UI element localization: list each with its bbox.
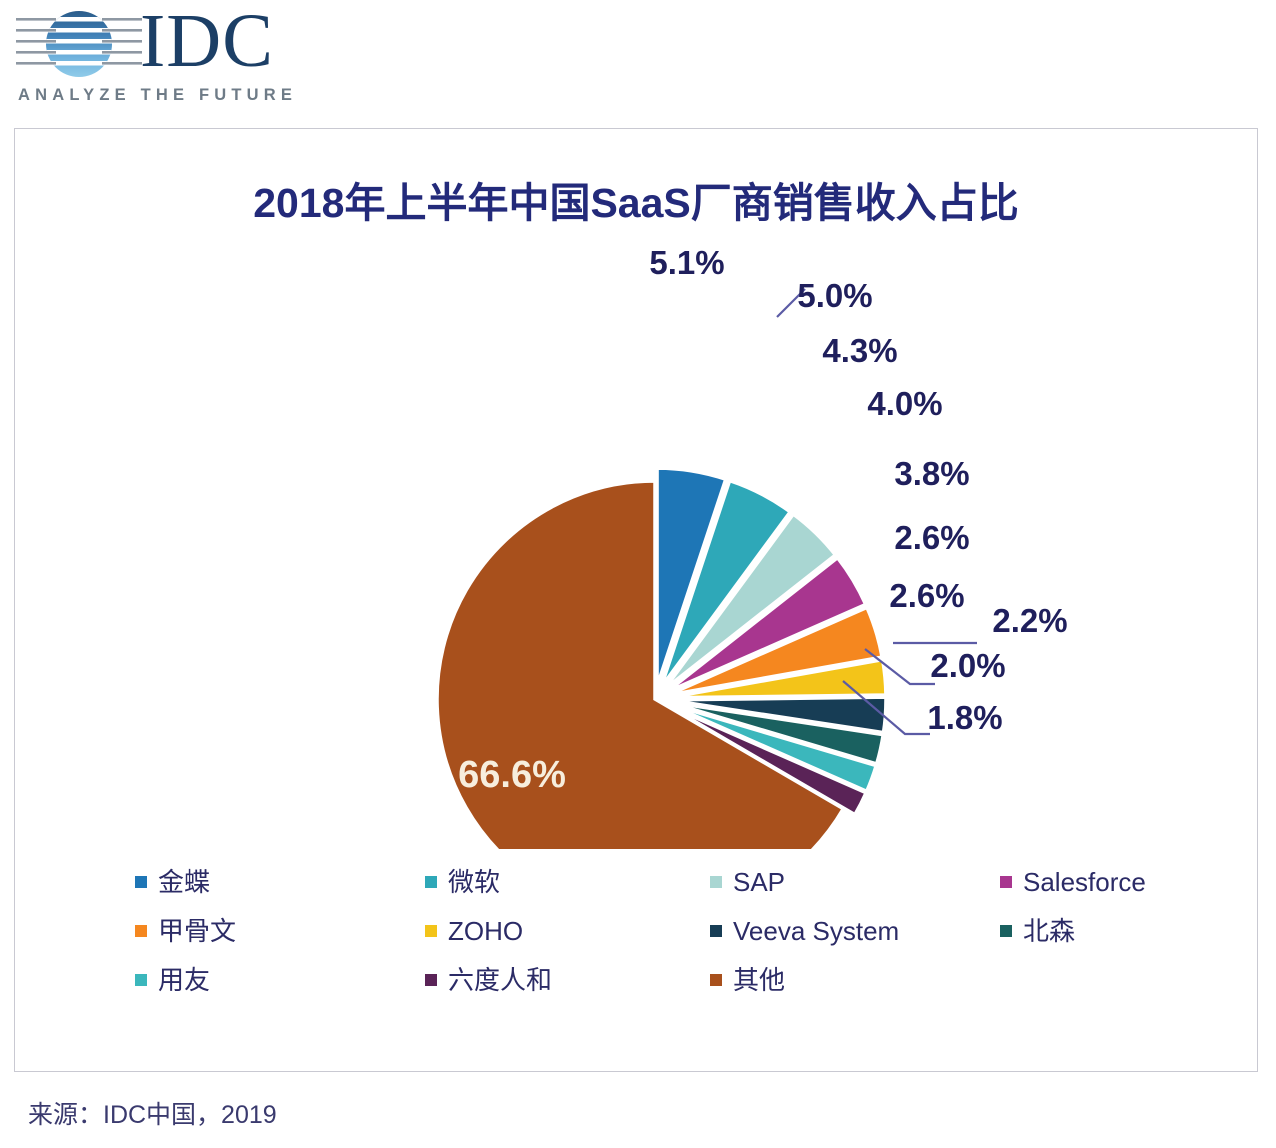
legend-item[interactable]: 六度人和 bbox=[425, 967, 710, 993]
pie-slice-label: 4.3% bbox=[822, 332, 897, 369]
legend-swatch-icon bbox=[425, 925, 437, 937]
pie-slice-label: 4.0% bbox=[867, 385, 942, 422]
legend-item[interactable]: 用友 bbox=[135, 967, 425, 993]
chart-container: 2018年上半年中国SaaS厂商销售收入占比 5.1%5.0%4.3%4.0%3… bbox=[14, 128, 1258, 1072]
chart-legend: 金蝶微软SAPSalesforce甲骨文ZOHOVeeva System北森用友… bbox=[135, 857, 1225, 1004]
legend-item-label: 北森 bbox=[1023, 918, 1075, 944]
legend-item[interactable]: Veeva System bbox=[710, 918, 1000, 944]
pie-slice-label: 1.8% bbox=[927, 699, 1002, 736]
legend-item[interactable]: 北森 bbox=[1000, 918, 1220, 944]
legend-swatch-icon bbox=[135, 974, 147, 986]
legend-item[interactable]: 微软 bbox=[425, 869, 710, 895]
legend-item-label: Salesforce bbox=[1023, 869, 1146, 895]
legend-item-label: 甲骨文 bbox=[158, 918, 236, 944]
legend-item[interactable]: 其他 bbox=[710, 967, 1000, 993]
idc-globe-logo-icon bbox=[14, 4, 144, 84]
legend-swatch-icon bbox=[135, 876, 147, 888]
legend-item[interactable]: Salesforce bbox=[1000, 869, 1220, 895]
legend-item-label: 六度人和 bbox=[448, 967, 552, 993]
pie-slice-label: 66.6% bbox=[458, 754, 566, 796]
legend-swatch-icon bbox=[425, 876, 437, 888]
legend-item[interactable]: 金蝶 bbox=[135, 869, 425, 895]
legend-item-label: 微软 bbox=[448, 869, 500, 895]
idc-wordmark: IDC bbox=[140, 0, 274, 82]
source-note: 来源：IDC中国，2019 bbox=[28, 1095, 277, 1131]
legend-item[interactable]: SAP bbox=[710, 869, 1000, 895]
legend-item-label: Veeva System bbox=[733, 918, 899, 944]
pie-slice-label: 2.2% bbox=[992, 602, 1067, 639]
chart-title: 2018年上半年中国SaaS厂商销售收入占比 bbox=[15, 169, 1257, 229]
pie-slice-label: 2.0% bbox=[930, 647, 1005, 684]
legend-item-label: 金蝶 bbox=[158, 869, 210, 895]
pie-slice-label: 2.6% bbox=[889, 577, 964, 614]
legend-item[interactable]: ZOHO bbox=[425, 918, 710, 944]
legend-swatch-icon bbox=[1000, 876, 1012, 888]
idc-logo: IDC ANALYZE THE FUTURE bbox=[8, 2, 308, 110]
pie-slice-label: 5.1% bbox=[649, 244, 724, 281]
legend-item-label: 用友 bbox=[158, 967, 210, 993]
pie-slice-label: 5.0% bbox=[797, 277, 872, 314]
pie-slice-label: 2.6% bbox=[894, 519, 969, 556]
legend-swatch-icon bbox=[710, 974, 722, 986]
legend-swatch-icon bbox=[710, 876, 722, 888]
legend-swatch-icon bbox=[710, 925, 722, 937]
legend-item[interactable]: 甲骨文 bbox=[135, 918, 425, 944]
legend-swatch-icon bbox=[425, 974, 437, 986]
idc-tagline: ANALYZE THE FUTURE bbox=[18, 86, 297, 105]
legend-swatch-icon bbox=[1000, 925, 1012, 937]
pie-chart: 5.1%5.0%4.3%4.0%3.8%2.6%2.6%2.2%2.0%1.8%… bbox=[15, 229, 1257, 849]
legend-item-label: 其他 bbox=[733, 967, 785, 993]
legend-swatch-icon bbox=[135, 925, 147, 937]
legend-item-label: ZOHO bbox=[448, 918, 523, 944]
legend-item-label: SAP bbox=[733, 869, 785, 895]
pie-slice-label: 3.8% bbox=[894, 455, 969, 492]
